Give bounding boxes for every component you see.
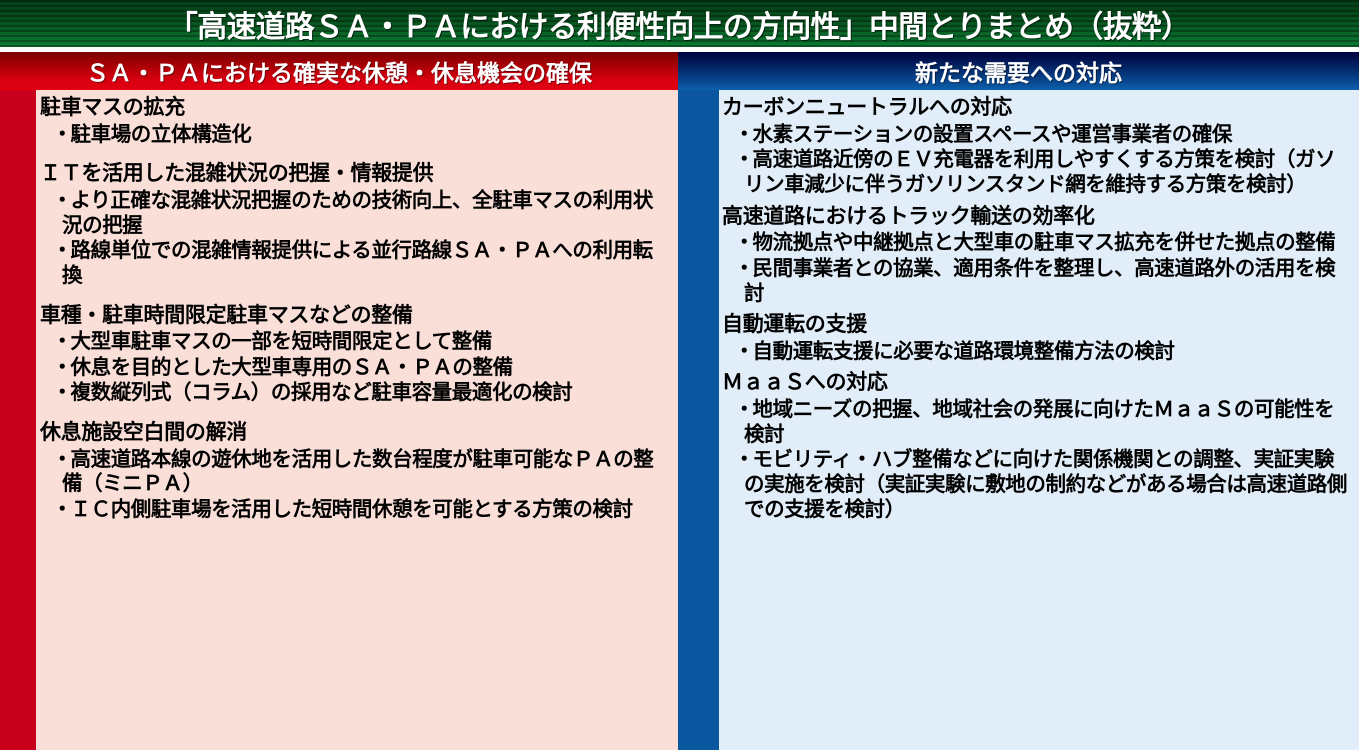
bullet-item: ・民間事業者との協業、適用条件を整理し、高速道路外の活用を検討 (722, 256, 1352, 305)
topic-heading: ＩＴを活用した混雑状況の把握・情報提供 (40, 161, 672, 186)
bullet-dot-icon: ・ (52, 497, 71, 521)
bullet-item: ・水素ステーションの設置スペースや運営事業者の確保 (722, 122, 1352, 147)
slide-title-bar: 「高速道路ＳＡ・ＰＡにおける利便性向上の方向性」中間とりまとめ（抜粋） (0, 0, 1359, 47)
bullet-text: 高速道路近傍のＥＶ充電器を利用しやすくする方策を検討（ガソリン車減少に伴うガソリ… (744, 147, 1335, 196)
bullet-dot-icon: ・ (52, 122, 71, 146)
bullet-text: 休息を目的とした大型車専用のＳＡ・ＰＡの整備 (71, 355, 513, 379)
accent-bar-right (678, 90, 719, 750)
bullet-item: ・自動運転支援に必要な道路環境整備方法の検討 (722, 339, 1352, 364)
bullet-dot-icon: ・ (52, 329, 71, 353)
bullet-text: 路線単位での混雑情報提供による並行路線ＳＡ・ＰＡへの利用転換 (62, 238, 653, 287)
bullet-item: ・地域ニーズの把握、地域社会の発展に向けたＭａａＳの可能性を検討 (722, 397, 1352, 446)
bullet-dot-icon: ・ (52, 447, 71, 471)
topic-heading: カーボンニュートラルへの対応 (722, 95, 1352, 120)
topic-group: 車種・駐車時間限定駐車マスなどの整備・大型車駐車マスの一部を短時間限定として整備… (40, 303, 672, 406)
bullet-text: 地域ニーズの把握、地域社会の発展に向けたＭａａＳの可能性を検討 (744, 397, 1334, 446)
bullet-dot-icon: ・ (734, 339, 753, 363)
page-title: 「高速道路ＳＡ・ＰＡにおける利便性向上の方向性」中間とりまとめ（抜粋） (168, 2, 1190, 46)
bullet-text: 水素ステーションの設置スペースや運営事業者の確保 (753, 122, 1233, 146)
column-content-left: 駐車マスの拡充・駐車場の立体構造化ＩＴを活用した混雑状況の把握・情報提供・より正… (40, 90, 672, 750)
bullet-list: ・より正確な混雑状況把握のための技術向上、全駐車マスの利用状況の把握・路線単位で… (40, 188, 672, 287)
bullet-dot-icon: ・ (52, 380, 71, 404)
bullet-list: ・自動運転支援に必要な道路環境整備方法の検討 (722, 339, 1352, 364)
topic-group: 駐車マスの拡充・駐車場の立体構造化 (40, 95, 672, 146)
topic-heading: 駐車マスの拡充 (40, 95, 672, 120)
bullet-dot-icon: ・ (52, 238, 71, 262)
bullet-item: ・路線単位での混雑情報提供による並行路線ＳＡ・ＰＡへの利用転換 (40, 238, 672, 287)
bullet-dot-icon: ・ (734, 122, 753, 146)
topic-heading: 車種・駐車時間限定駐車マスなどの整備 (40, 303, 672, 328)
bullet-item: ・休息を目的とした大型車専用のＳＡ・ＰＡの整備 (40, 355, 672, 380)
bullet-list: ・大型車駐車マスの一部を短時間限定として整備・休息を目的とした大型車専用のＳＡ・… (40, 329, 672, 405)
bullet-list: ・物流拠点や中継拠点と大型車の駐車マス拡充を併せた拠点の整備・民間事業者との協業… (722, 230, 1352, 305)
bullet-text: 民間事業者との協業、適用条件を整理し、高速道路外の活用を検討 (744, 256, 1335, 305)
slide-root: 「高速道路ＳＡ・ＰＡにおける利便性向上の方向性」中間とりまとめ（抜粋） ＳＡ・Ｐ… (0, 0, 1359, 750)
topic-heading: 自動運転の支援 (722, 312, 1352, 337)
column-content-right: カーボンニュートラルへの対応・水素ステーションの設置スペースや運営事業者の確保・… (722, 90, 1352, 750)
topic-heading: 高速道路におけるトラック輸送の効率化 (722, 204, 1352, 229)
bullet-item: ・ＩＣ内側駐車場を活用した短時間休憩を可能とする方策の検討 (40, 497, 672, 522)
bullet-text: 高速道路本線の遊休地を活用した数台程度が駐車可能なＰＡの整備（ミニＰＡ） (62, 447, 653, 496)
bullet-item: ・高速道路近傍のＥＶ充電器を利用しやすくする方策を検討（ガソリン車減少に伴うガソ… (722, 147, 1352, 196)
bullet-text: 物流拠点や中継拠点と大型車の駐車マス拡充を併せた拠点の整備 (753, 230, 1336, 254)
topic-heading: 休息施設空白間の解消 (40, 420, 672, 445)
bullet-list: ・地域ニーズの把握、地域社会の発展に向けたＭａａＳの可能性を検討・モビリティ・ハ… (722, 397, 1352, 521)
bullet-list: ・水素ステーションの設置スペースや運営事業者の確保・高速道路近傍のＥＶ充電器を利… (722, 122, 1352, 197)
bullet-item: ・モビリティ・ハブ整備などに向けた関係機関との調整、実証実験の実施を検討（実証実… (722, 447, 1352, 521)
topic-heading: ＭａａＳへの対応 (722, 370, 1352, 395)
bullet-text: 自動運転支援に必要な道路環境整備方法の検討 (753, 339, 1175, 363)
topic-group: ＭａａＳへの対応・地域ニーズの把握、地域社会の発展に向けたＭａａＳの可能性を検討… (722, 370, 1352, 521)
column-header-left-label: ＳＡ・ＰＡにおける確実な休憩・休息機会の確保 (86, 54, 592, 88)
bullet-item: ・大型車駐車マスの一部を短時間限定として整備 (40, 329, 672, 354)
bullet-list: ・駐車場の立体構造化 (40, 122, 672, 147)
topic-group: 高速道路におけるトラック輸送の効率化・物流拠点や中継拠点と大型車の駐車マス拡充を… (722, 204, 1352, 306)
column-header-right-label: 新たな需要への対応 (915, 54, 1122, 88)
bullet-text: 複数縦列式（コラム）の採用など駐車容量最適化の検討 (71, 380, 573, 404)
bullet-dot-icon: ・ (734, 397, 753, 421)
topic-group: 休息施設空白間の解消・高速道路本線の遊休地を活用した数台程度が駐車可能なＰＡの整… (40, 420, 672, 522)
bullet-text: 大型車駐車マスの一部を短時間限定として整備 (71, 329, 492, 353)
bullet-item: ・複数縦列式（コラム）の採用など駐車容量最適化の検討 (40, 380, 672, 405)
bullet-text: ＩＣ内側駐車場を活用した短時間休憩を可能とする方策の検討 (71, 497, 633, 521)
accent-bar-left (0, 90, 36, 750)
bullet-dot-icon: ・ (734, 447, 753, 471)
bullet-dot-icon: ・ (52, 355, 71, 379)
column-header-left: ＳＡ・ＰＡにおける確実な休憩・休息機会の確保 (0, 52, 678, 90)
topic-group: ＩＴを活用した混雑状況の把握・情報提供・より正確な混雑状況把握のための技術向上、… (40, 161, 672, 287)
column-header-right: 新たな需要への対応 (678, 52, 1359, 90)
bullet-item: ・より正確な混雑状況把握のための技術向上、全駐車マスの利用状況の把握 (40, 188, 672, 237)
topic-group: カーボンニュートラルへの対応・水素ステーションの設置スペースや運営事業者の確保・… (722, 95, 1352, 197)
bullet-item: ・駐車場の立体構造化 (40, 122, 672, 147)
bullet-dot-icon: ・ (52, 188, 71, 212)
bullet-item: ・物流拠点や中継拠点と大型車の駐車マス拡充を併せた拠点の整備 (722, 230, 1352, 255)
bullet-text: より正確な混雑状況把握のための技術向上、全駐車マスの利用状況の把握 (62, 188, 653, 237)
bullet-dot-icon: ・ (734, 230, 753, 254)
bullet-text: 駐車場の立体構造化 (71, 122, 252, 146)
bullet-list: ・高速道路本線の遊休地を活用した数台程度が駐車可能なＰＡの整備（ミニＰＡ）・ＩＣ… (40, 447, 672, 522)
bullet-item: ・高速道路本線の遊休地を活用した数台程度が駐車可能なＰＡの整備（ミニＰＡ） (40, 447, 672, 496)
bullet-dot-icon: ・ (734, 256, 753, 280)
topic-group: 自動運転の支援・自動運転支援に必要な道路環境整備方法の検討 (722, 312, 1352, 363)
bullet-text: モビリティ・ハブ整備などに向けた関係機関との調整、実証実験の実施を検討（実証実験… (744, 447, 1347, 520)
bullet-dot-icon: ・ (734, 147, 753, 171)
